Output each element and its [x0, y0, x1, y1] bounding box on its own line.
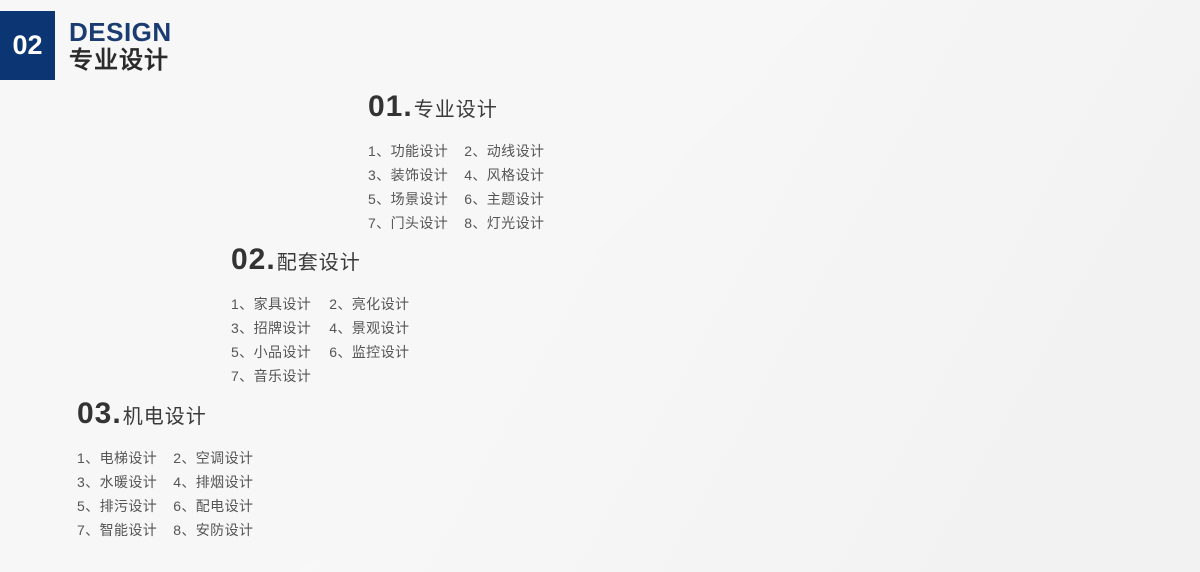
list-item: 7、智能设计 [77, 518, 157, 542]
list-item: 2、空调设计 [173, 446, 253, 470]
slide-canvas: 02 DESIGN 专业设计 01 . 专业设计 1、功能设计 2、动线设计 3… [0, 0, 1200, 572]
section-03-label: 机电设计 [123, 407, 207, 427]
header-text-block: DESIGN 专业设计 [69, 11, 172, 80]
section-03-number: 03 [77, 399, 112, 429]
section-02-title: 02 . 配套设计 [231, 245, 409, 275]
page-title-en: DESIGN [69, 19, 172, 46]
badge-number-label: 02 [12, 32, 42, 59]
list-item: 5、排污设计 [77, 494, 157, 518]
list-item: 4、景观设计 [329, 316, 409, 340]
list-item: 3、招牌设计 [231, 316, 311, 340]
section-02-dot: . [266, 245, 274, 275]
list-item: 3、装饰设计 [368, 163, 448, 187]
list-item: 6、监控设计 [329, 340, 409, 364]
section-03-title: 03 . 机电设计 [77, 399, 253, 429]
list-item: 3、水暖设计 [77, 470, 157, 494]
section-01-title: 01 . 专业设计 [368, 92, 544, 122]
list-item: 8、灯光设计 [464, 211, 544, 235]
section-number-badge: 02 [0, 11, 55, 80]
section-01-item-list: 1、功能设计 2、动线设计 3、装饰设计 4、风格设计 5、场景设计 6、主题设… [368, 139, 544, 235]
list-item: 5、小品设计 [231, 340, 311, 364]
list-item: 4、风格设计 [464, 163, 544, 187]
section-01-number: 01 [368, 92, 403, 122]
list-item: 2、亮化设计 [329, 292, 409, 316]
list-item: 4、排烟设计 [173, 470, 253, 494]
list-item: 6、配电设计 [173, 494, 253, 518]
section-02-label: 配套设计 [277, 253, 361, 273]
page-title-cn: 专业设计 [69, 47, 172, 75]
section-01: 01 . 专业设计 1、功能设计 2、动线设计 3、装饰设计 4、风格设计 5、… [368, 92, 544, 235]
list-item: 5、场景设计 [368, 187, 448, 211]
section-03-item-list: 1、电梯设计 2、空调设计 3、水暖设计 4、排烟设计 5、排污设计 6、配电设… [77, 446, 253, 542]
section-01-label: 专业设计 [414, 100, 498, 120]
section-02-item-list: 1、家具设计 2、亮化设计 3、招牌设计 4、景观设计 5、小品设计 6、监控设… [231, 292, 409, 388]
list-item: 7、门头设计 [368, 211, 448, 235]
list-item: 1、功能设计 [368, 139, 448, 163]
section-03: 03 . 机电设计 1、电梯设计 2、空调设计 3、水暖设计 4、排烟设计 5、… [77, 399, 253, 542]
list-item: 7、音乐设计 [231, 364, 311, 388]
list-item: 8、安防设计 [173, 518, 253, 542]
list-item: 1、家具设计 [231, 292, 311, 316]
section-02-number: 02 [231, 245, 266, 275]
section-01-dot: . [403, 92, 411, 122]
list-item: 1、电梯设计 [77, 446, 157, 470]
section-03-dot: . [112, 399, 120, 429]
section-02: 02 . 配套设计 1、家具设计 2、亮化设计 3、招牌设计 4、景观设计 5、… [231, 245, 409, 388]
slide-header: 02 DESIGN 专业设计 [0, 11, 172, 80]
list-item: 2、动线设计 [464, 139, 544, 163]
list-item: 6、主题设计 [464, 187, 544, 211]
